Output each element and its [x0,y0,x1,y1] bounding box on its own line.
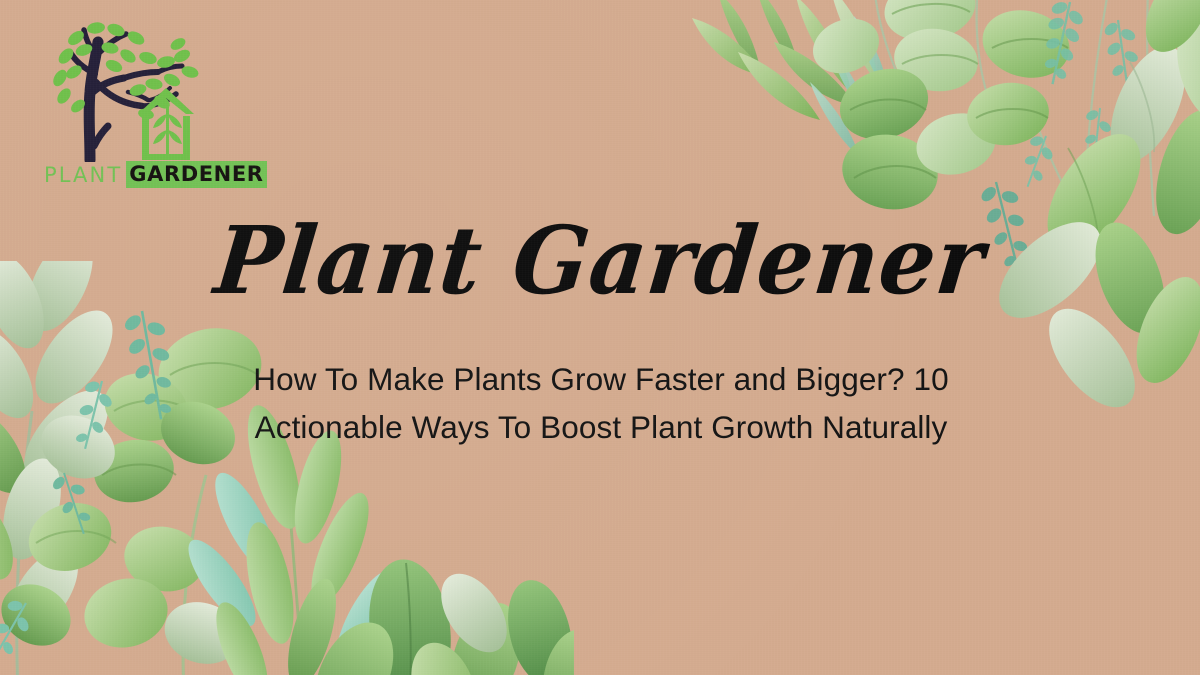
poster-canvas: PLANT GARDENER Plant Gardener How To Mak… [0,0,1200,675]
brand-logo[interactable]: PLANT GARDENER [42,22,242,194]
page-subtitle: How To Make Plants Grow Faster and Bigge… [195,356,1007,452]
subtitle-line-2: Actionable Ways To Boost Plant Growth Na… [195,404,1007,452]
tree-and-greenhouse-logo-icon [50,22,200,162]
logo-word-plant: PLANT [44,163,122,187]
logo-word-gardener: GARDENER [126,161,266,188]
watercolor-foliage-bottom-left [0,261,574,675]
logo-wordmark: PLANT GARDENER [44,161,267,188]
page-title-script: Plant Gardener [0,213,1200,306]
subtitle-line-1: How To Make Plants Grow Faster and Bigge… [195,356,1007,404]
